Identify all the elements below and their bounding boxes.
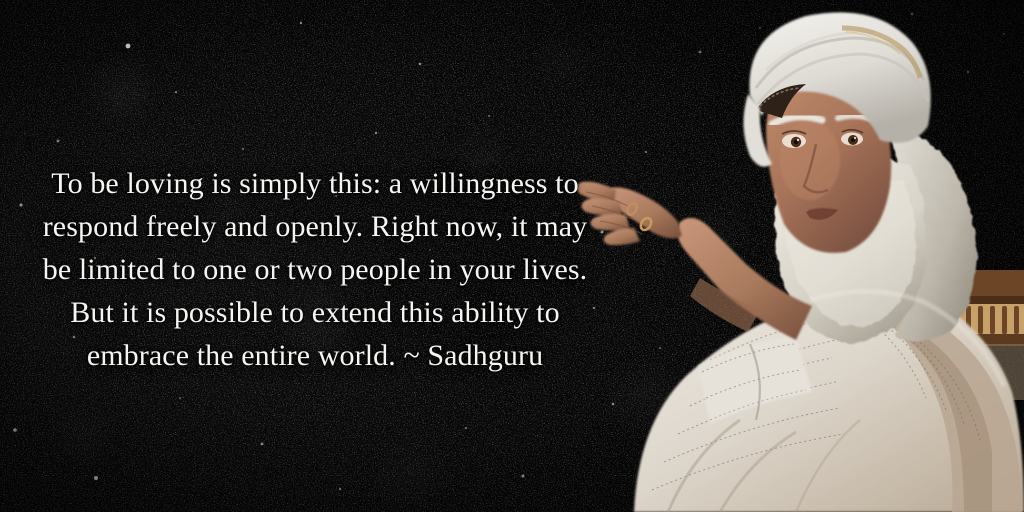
quote-line-1: To be loving is simply this: a willingne… bbox=[0, 162, 630, 205]
quote-image-canvas: To be loving is simply this: a willingne… bbox=[0, 0, 1024, 512]
quote-line-3: be limited to one or two people in your … bbox=[0, 248, 630, 291]
quote-line-2: respond freely and openly. Right now, it… bbox=[0, 205, 630, 248]
quote-text-block: To be loving is simply this: a willingne… bbox=[0, 162, 630, 377]
quote-line-5: embrace the entire world. ~ Sadhguru bbox=[0, 334, 630, 377]
quote-line-4: But it is possible to extend this abilit… bbox=[0, 291, 630, 334]
